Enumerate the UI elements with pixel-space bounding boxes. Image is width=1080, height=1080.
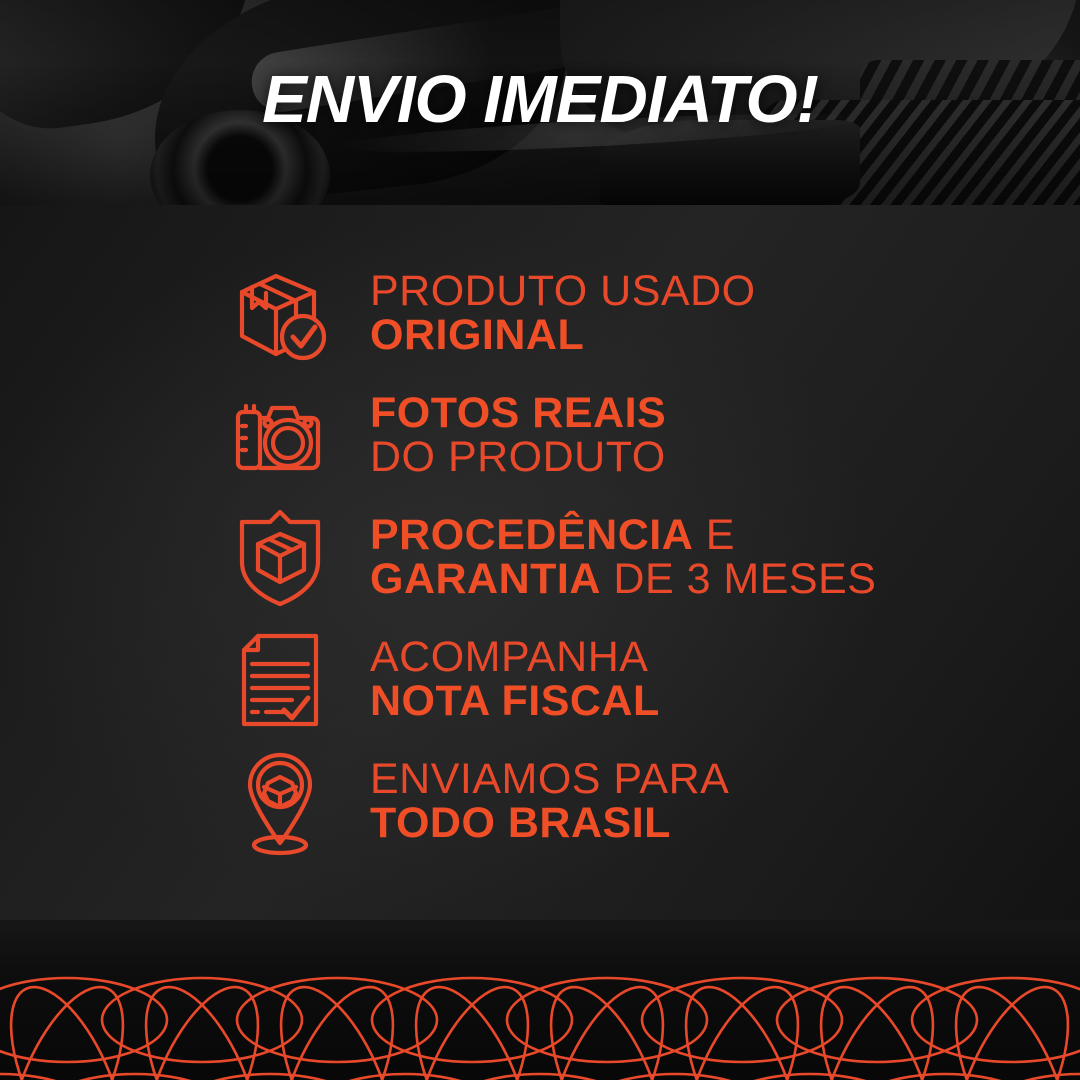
feature-line-2: NOTA FISCAL bbox=[370, 680, 1058, 724]
feature-line-1-regular: E bbox=[693, 511, 735, 559]
hero-section: ENVIO IMEDIATO! bbox=[0, 0, 1080, 205]
feature-line-2-bold: GARANTIA bbox=[370, 555, 601, 603]
feature-line-1: FOTOS REAIS bbox=[370, 392, 1058, 436]
feature-line-1: ENVIAMOS PARA bbox=[370, 758, 1058, 802]
feature-line-2: DO PRODUTO bbox=[370, 436, 1058, 480]
features-list: PRODUTO USADO ORIGINAL bbox=[228, 253, 1058, 863]
feature-line-2: ORIGINAL bbox=[370, 314, 1058, 358]
feature-text: FOTOS REAIS DO PRODUTO bbox=[340, 392, 1058, 480]
feature-line-1: ACOMPANHA bbox=[370, 636, 1058, 680]
promo-banner: ENVIO IMEDIATO! PROD bbox=[0, 0, 1080, 1080]
feature-text: ENVIAMOS PARA TODO BRASIL bbox=[340, 758, 1058, 846]
map-pin-box-icon bbox=[228, 747, 340, 857]
feature-row: FOTOS REAIS DO PRODUTO bbox=[228, 375, 1058, 497]
feature-line-2: TODO BRASIL bbox=[370, 802, 1058, 846]
feature-text: PRODUTO USADO ORIGINAL bbox=[340, 270, 1058, 358]
feature-line-1: PRODUTO USADO bbox=[370, 270, 1058, 314]
shield-box-icon bbox=[228, 506, 340, 610]
feature-row: ACOMPANHA NOTA FISCAL bbox=[228, 619, 1058, 741]
box-check-icon bbox=[228, 264, 340, 364]
feature-row: PROCEDÊNCIA E GARANTIA DE 3 MESES bbox=[228, 497, 1058, 619]
feature-text: ACOMPANHA NOTA FISCAL bbox=[340, 636, 1058, 724]
camera-icon bbox=[228, 386, 340, 486]
feature-line-2-regular: DE 3 MESES bbox=[601, 555, 877, 603]
feature-row: PRODUTO USADO ORIGINAL bbox=[228, 253, 1058, 375]
feature-text: PROCEDÊNCIA E GARANTIA DE 3 MESES bbox=[340, 514, 1058, 602]
pattern-top-fade bbox=[0, 920, 1080, 966]
footer-pattern bbox=[0, 920, 1080, 1080]
feature-row: ENVIAMOS PARA TODO BRASIL bbox=[228, 741, 1058, 863]
page-title: ENVIO IMEDIATO! bbox=[0, 66, 1080, 133]
features-panel: PRODUTO USADO ORIGINAL bbox=[0, 205, 1080, 965]
invoice-document-icon bbox=[228, 628, 340, 732]
feature-line-2: GARANTIA DE 3 MESES bbox=[370, 558, 1058, 602]
feature-line-1: PROCEDÊNCIA E bbox=[370, 514, 1058, 558]
feature-line-1-bold: PROCEDÊNCIA bbox=[370, 511, 693, 559]
